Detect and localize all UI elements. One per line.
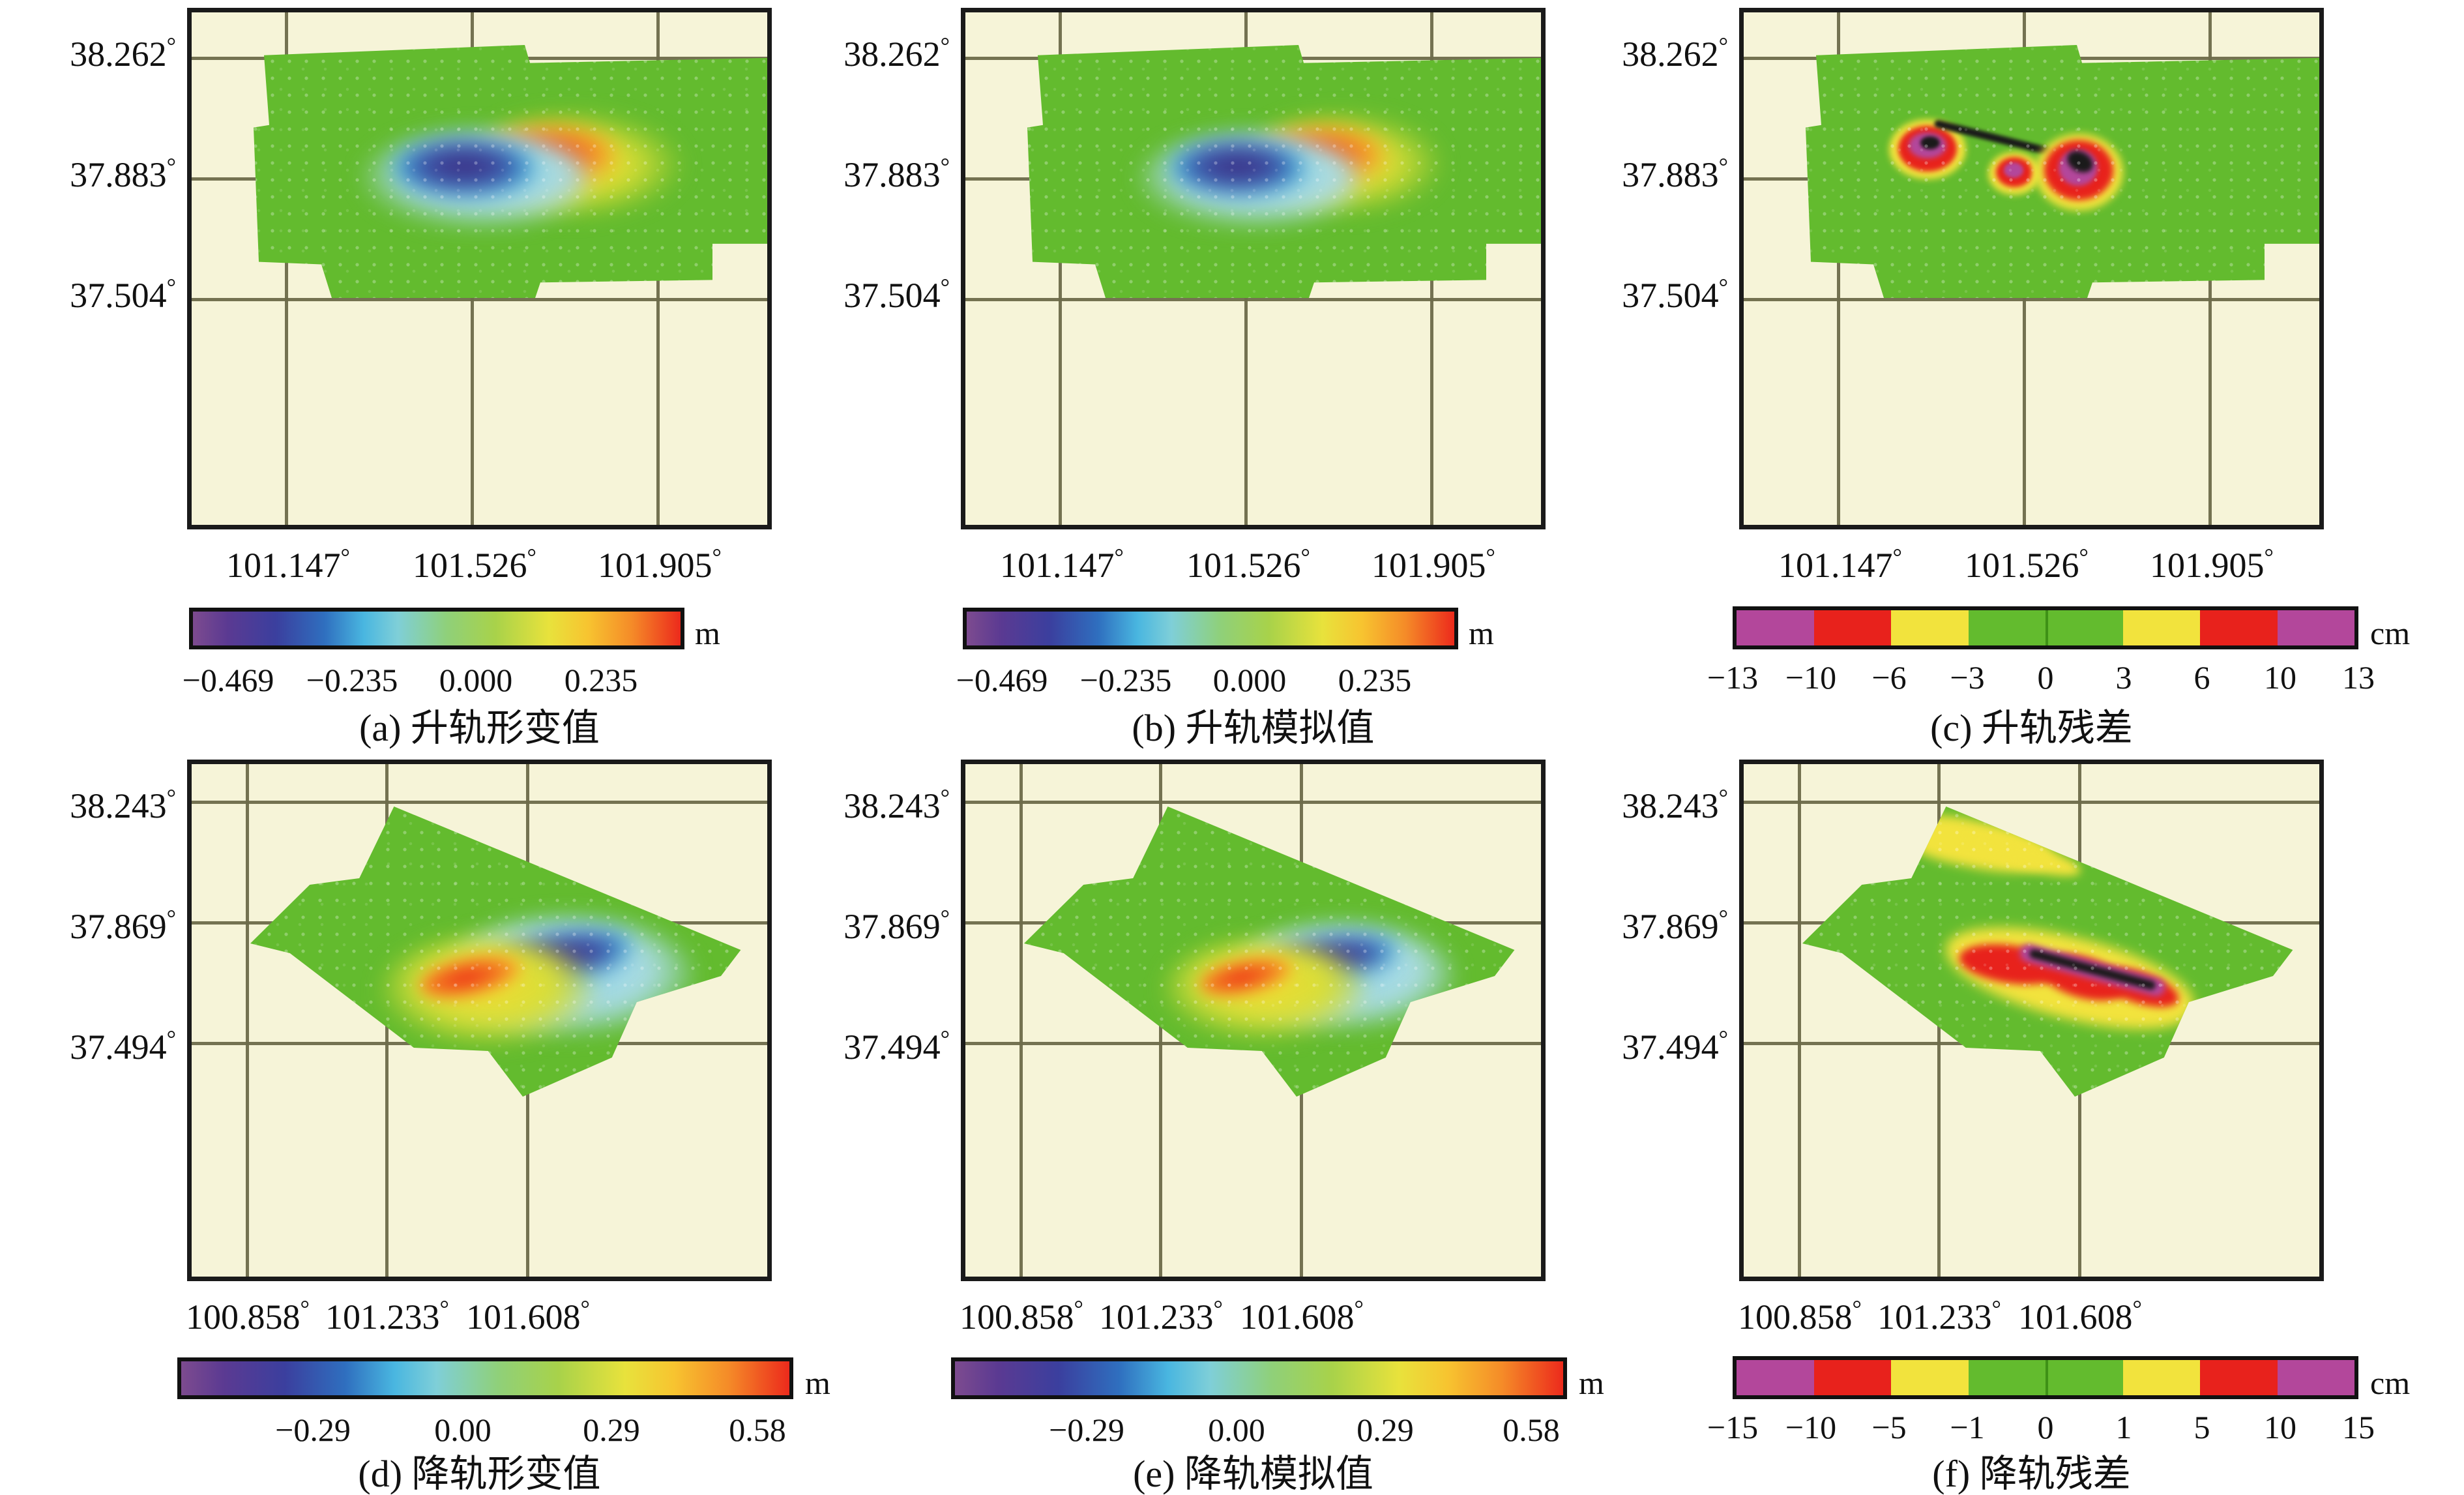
ytick-text: 37.504 xyxy=(70,276,167,315)
degree-icon: ° xyxy=(167,274,176,300)
cbar-segment-0 xyxy=(1737,610,1814,645)
degree-icon: ° xyxy=(2079,544,2089,570)
panel-a-colorbar-unit: m xyxy=(695,617,720,649)
ytick-text: 38.243 xyxy=(843,786,941,825)
ytick-text: 37.494 xyxy=(70,1028,167,1067)
panel-f-xtick-2: 101.608° xyxy=(1976,1297,2184,1335)
degree-icon: ° xyxy=(1355,1295,1364,1322)
cbar-segment-7 xyxy=(2278,1360,2355,1395)
ytick-text: 38.262 xyxy=(70,35,167,74)
insar-swath-footprint xyxy=(254,42,772,301)
panel-e-ytick-2: 37.494° xyxy=(774,1027,950,1065)
degree-icon: ° xyxy=(1893,544,1902,570)
gridline-lat-37504 xyxy=(965,298,1541,301)
panel-a-map xyxy=(187,8,772,529)
xtick-text: 101.905 xyxy=(1371,546,1486,585)
panel-e-ytick-1: 37.869° xyxy=(774,906,950,944)
insar-swath-footprint xyxy=(1027,42,1546,301)
cbar-segment-2 xyxy=(1891,610,1969,645)
panel-c-map xyxy=(1739,8,2324,529)
panel-b-colorbar-unit: m xyxy=(1469,617,1494,649)
panel-b-xtick-2: 101.905° xyxy=(1329,545,1538,583)
panel-f-cbtick-8: 15 xyxy=(2300,1411,2417,1443)
degree-icon: ° xyxy=(712,544,722,570)
xtick-text: 101.147 xyxy=(1000,546,1115,585)
degree-icon: ° xyxy=(1719,905,1728,931)
cbar-segment-1 xyxy=(1814,610,1892,645)
ytick-text: 38.262 xyxy=(1622,35,1719,74)
ytick-text: 37.494 xyxy=(843,1028,941,1067)
panel-c-colorbar xyxy=(1733,606,2358,649)
panel-d-colorbar-unit: m xyxy=(805,1367,830,1399)
panel-b-ytick-1: 37.883° xyxy=(774,155,950,192)
ytick-text: 38.262 xyxy=(843,35,941,74)
swath-speckle-texture-2 xyxy=(1806,42,2324,301)
degree-icon: ° xyxy=(941,784,950,810)
degree-icon: ° xyxy=(1719,274,1728,300)
panel-d-ytick-1: 37.869° xyxy=(0,906,176,944)
cbar-segment-6 xyxy=(2200,1360,2278,1395)
gridline-lat-37504 xyxy=(192,298,767,301)
ytick-text: 38.243 xyxy=(1622,786,1719,825)
panel-a-ytick-2: 37.504° xyxy=(0,275,176,313)
xtick-text: 101.147 xyxy=(226,546,341,585)
panel-c-xtick-2: 101.905° xyxy=(2107,545,2316,583)
ytick-text: 37.883 xyxy=(1622,155,1719,194)
cbar-segment-6 xyxy=(2200,610,2278,645)
swath-speckle-texture-2 xyxy=(1027,42,1546,301)
ytick-text: 37.883 xyxy=(843,155,941,194)
degree-icon: ° xyxy=(1719,1026,1728,1052)
cbar-segment-5 xyxy=(2123,610,2201,645)
xtick-text: 101.905 xyxy=(598,546,712,585)
degree-icon: ° xyxy=(527,544,536,570)
panel-b-map xyxy=(961,8,1546,529)
xtick-text: 101.608 xyxy=(466,1297,581,1337)
degree-icon: ° xyxy=(167,784,176,810)
degree-icon: ° xyxy=(2265,544,2274,570)
panel-a-caption: (a) 升轨形变值 xyxy=(187,709,772,747)
ytick-text: 37.504 xyxy=(1622,276,1719,315)
panel-e-caption: (e) 降轨模拟值 xyxy=(961,1455,1546,1493)
degree-icon: ° xyxy=(1115,544,1124,570)
cbar-segment-3 xyxy=(1969,610,2046,645)
degree-icon: ° xyxy=(341,544,350,570)
degree-icon: ° xyxy=(941,1026,950,1052)
xtick-text: 101.233 xyxy=(1877,1297,1992,1337)
cbar-segment-4 xyxy=(2046,610,2123,645)
ytick-text: 37.504 xyxy=(843,276,941,315)
degree-icon: ° xyxy=(167,905,176,931)
panel-d-map xyxy=(187,760,772,1281)
degree-icon: ° xyxy=(1486,544,1495,570)
xtick-text: 101.526 xyxy=(413,546,527,585)
xtick-text: 101.608 xyxy=(1240,1297,1355,1337)
xtick-text: 101.233 xyxy=(1099,1297,1214,1337)
panel-e-cbtick-3: 0.58 xyxy=(1433,1414,1629,1446)
panel-a-xtick-0: 101.147° xyxy=(184,545,392,583)
panel-b-colorbar xyxy=(963,608,1458,649)
panel-b-cbtick-3: 0.235 xyxy=(1277,664,1473,696)
panel-e-ytick-0: 38.243° xyxy=(774,786,950,823)
panel-f-colorbar xyxy=(1733,1356,2358,1399)
panel-f-map xyxy=(1739,760,2324,1281)
ytick-text: 37.883 xyxy=(70,155,167,194)
panel-c-caption: (c) 升轨残差 xyxy=(1739,709,2324,747)
degree-icon: ° xyxy=(1719,33,1728,59)
panel-e-map xyxy=(961,760,1546,1281)
degree-icon: ° xyxy=(167,33,176,59)
xtick-text: 101.905 xyxy=(2150,546,2265,585)
degree-icon: ° xyxy=(941,905,950,931)
panel-a-xtick-1: 101.526° xyxy=(370,545,579,583)
gridline-lon-100858 xyxy=(1798,764,1801,1277)
cbar-segment-7 xyxy=(2278,610,2355,645)
ytick-text: 37.869 xyxy=(1622,907,1719,946)
panel-d-xtick-2: 101.608° xyxy=(424,1297,632,1335)
panel-b-ytick-2: 37.504° xyxy=(774,275,950,313)
panel-f-colorbar-unit: cm xyxy=(2370,1367,2410,1399)
panel-c-xtick-0: 101.147° xyxy=(1736,545,1944,583)
xtick-text: 101.147 xyxy=(1778,546,1893,585)
panel-c-cbtick-8: 13 xyxy=(2300,661,2417,694)
panel-d-ytick-0: 38.243° xyxy=(0,786,176,823)
degree-icon: ° xyxy=(1301,544,1310,570)
cbar-segment-0 xyxy=(1737,1360,1814,1395)
xtick-text: 101.608 xyxy=(2018,1297,2133,1337)
degree-icon: ° xyxy=(167,1026,176,1052)
ytick-text: 37.869 xyxy=(70,907,167,946)
gridline-lon-100858 xyxy=(1019,764,1023,1277)
panel-f-ytick-0: 38.243° xyxy=(1552,786,1728,823)
ytick-text: 37.869 xyxy=(843,907,941,946)
cbar-segment-3 xyxy=(1969,1360,2046,1395)
degree-icon: ° xyxy=(167,153,176,179)
xtick-text: 101.526 xyxy=(1186,546,1301,585)
gridline-lon-100858 xyxy=(246,764,249,1277)
panel-f-caption: (f) 降轨残差 xyxy=(1739,1455,2324,1493)
insar-swath-footprint xyxy=(1806,42,2324,301)
degree-icon: ° xyxy=(941,274,950,300)
gridline-lat-38243 xyxy=(1744,801,2319,804)
panel-c-ytick-0: 38.262° xyxy=(1552,34,1728,72)
ytick-text: 38.243 xyxy=(70,786,167,825)
degree-icon: ° xyxy=(2133,1295,2142,1322)
panel-d-ytick-2: 37.494° xyxy=(0,1027,176,1065)
swath-speckle-texture-2 xyxy=(254,42,772,301)
ytick-text: 37.494 xyxy=(1622,1028,1719,1067)
panel-d-colorbar xyxy=(177,1357,793,1399)
panel-a-ytick-1: 37.883° xyxy=(0,155,176,192)
panel-a-cbtick-3: 0.235 xyxy=(503,664,699,696)
panel-e-xtick-2: 101.608° xyxy=(1197,1297,1406,1335)
xtick-text: 101.526 xyxy=(1965,546,2079,585)
degree-icon: ° xyxy=(941,33,950,59)
gridline-lat-38243 xyxy=(192,801,767,804)
panel-d-caption: (d) 降轨形变值 xyxy=(187,1455,772,1493)
cbar-segment-1 xyxy=(1814,1360,1892,1395)
panel-a-colorbar xyxy=(189,608,684,649)
panel-a-ytick-0: 38.262° xyxy=(0,34,176,72)
gridline-lat-37504 xyxy=(1744,298,2319,301)
panel-c-colorbar-unit: cm xyxy=(2370,617,2410,649)
panel-f-ytick-2: 37.494° xyxy=(1552,1027,1728,1065)
panel-c-xtick-1: 101.526° xyxy=(1922,545,2131,583)
degree-icon: ° xyxy=(1719,153,1728,179)
degree-icon: ° xyxy=(941,153,950,179)
panel-e-colorbar xyxy=(951,1357,1567,1399)
xtick-text: 101.233 xyxy=(325,1297,440,1337)
panel-a-xtick-2: 101.905° xyxy=(555,545,764,583)
degree-icon: ° xyxy=(581,1295,590,1322)
cbar-segment-5 xyxy=(2123,1360,2201,1395)
cbar-segment-4 xyxy=(2046,1360,2123,1395)
panel-c-ytick-2: 37.504° xyxy=(1552,275,1728,313)
cbar-segment-2 xyxy=(1891,1360,1969,1395)
panel-c-ytick-1: 37.883° xyxy=(1552,155,1728,192)
panel-b-ytick-0: 38.262° xyxy=(774,34,950,72)
degree-icon: ° xyxy=(1719,784,1728,810)
panel-b-caption: (b) 升轨模拟值 xyxy=(961,709,1546,747)
panel-f-ytick-1: 37.869° xyxy=(1552,906,1728,944)
panel-e-colorbar-unit: m xyxy=(1579,1367,1604,1399)
panel-d-cbtick-3: 0.58 xyxy=(660,1414,855,1446)
gridline-lat-38243 xyxy=(965,801,1541,804)
panel-b-xtick-0: 101.147° xyxy=(958,545,1166,583)
panel-b-xtick-1: 101.526° xyxy=(1144,545,1353,583)
